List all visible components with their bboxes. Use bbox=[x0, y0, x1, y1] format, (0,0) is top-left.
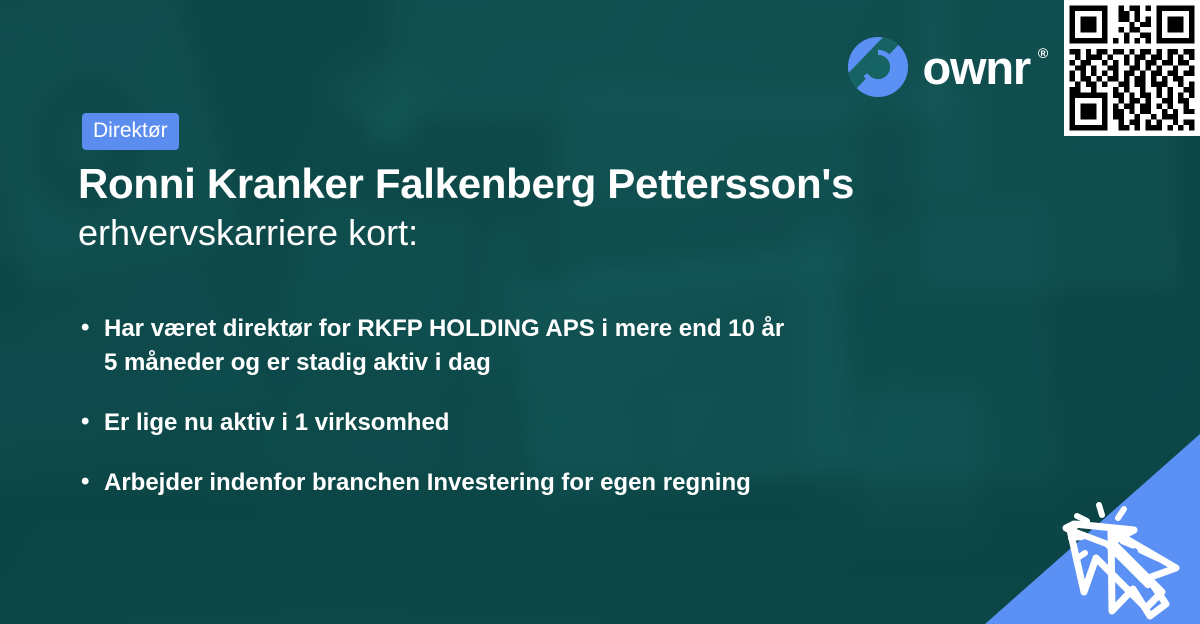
qr-code[interactable] bbox=[1064, 0, 1200, 136]
fact-line-1: Arbejder indenfor branchen Investering f… bbox=[104, 469, 751, 496]
role-badge: Direktør bbox=[82, 113, 179, 150]
list-item: Har været direktør for RKFP HOLDING APS … bbox=[78, 312, 978, 380]
career-card: ownr® bbox=[0, 0, 1200, 624]
click-sparkle-icon bbox=[1071, 505, 1124, 559]
brand-logo: ownr® bbox=[847, 36, 1030, 98]
cursor-glyph bbox=[1111, 530, 1176, 616]
page-subtitle: erhvervskarriere kort: bbox=[78, 210, 418, 255]
click-cursor-icon bbox=[1066, 524, 1162, 608]
career-facts-list: Har været direktør for RKFP HOLDING APS … bbox=[78, 312, 978, 526]
fact-line-2: 5 måneder og er stadig aktiv i dag bbox=[104, 349, 491, 376]
ownr-circle-swoosh-icon bbox=[847, 36, 909, 98]
list-item: Er lige nu aktiv i 1 virksomhed bbox=[78, 406, 978, 440]
list-item: Arbejder indenfor branchen Investering f… bbox=[78, 466, 978, 500]
brand-wordmark: ownr® bbox=[923, 44, 1030, 91]
qr-code-icon bbox=[1064, 0, 1200, 136]
page-title: Ronni Kranker Falkenberg Pettersson's bbox=[78, 158, 1058, 209]
fact-line-1: Har været direktør for RKFP HOLDING APS … bbox=[104, 315, 784, 342]
fact-line-1: Er lige nu aktiv i 1 virksomhed bbox=[104, 409, 449, 436]
blue-triangle bbox=[985, 434, 1200, 624]
click-cursor-arrow bbox=[1070, 524, 1148, 585]
registered-trademark-icon: ® bbox=[1038, 46, 1047, 60]
brand-name-text: ownr bbox=[923, 41, 1030, 94]
